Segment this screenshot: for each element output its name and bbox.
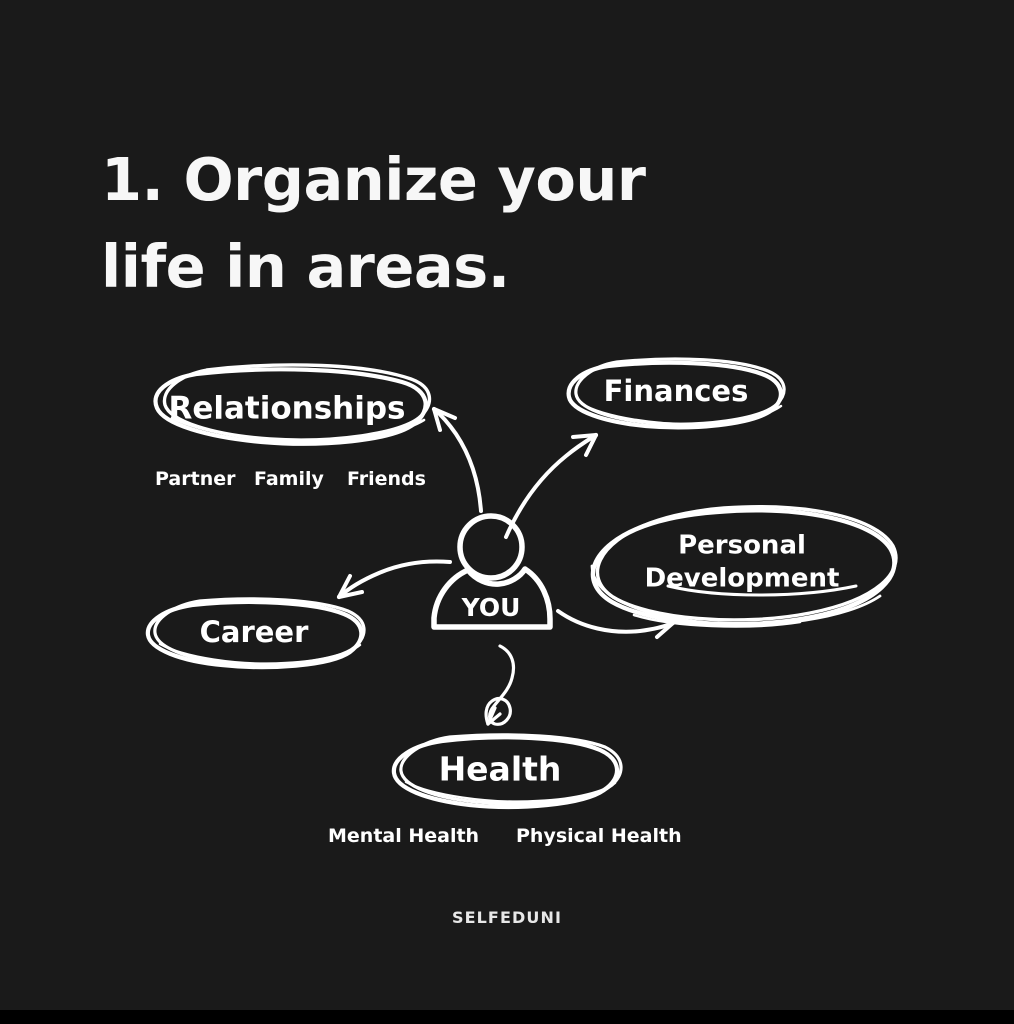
arrow-to-health <box>486 646 513 724</box>
slide-canvas: 1. Organize your life in areas. Relation… <box>0 0 1014 1010</box>
node-label-personal-development-line2: Development <box>645 564 840 594</box>
node-label-health: Health <box>439 750 562 789</box>
node-health[interactable]: Health <box>394 735 621 807</box>
sub-label-family: Family <box>254 468 324 490</box>
node-relationships[interactable]: Relationships <box>155 365 429 444</box>
node-finances[interactable]: Finances <box>569 359 784 427</box>
arrow-to-personal-development <box>558 611 673 637</box>
arrow-to-finances <box>506 435 596 537</box>
life-areas-diagram: Relationships Finances Personal Developm… <box>0 0 1014 1010</box>
arrow-to-relationships <box>434 409 481 511</box>
node-personal-development[interactable]: Personal Development <box>592 507 896 627</box>
sub-label-partner: Partner <box>155 468 235 490</box>
footer-brand: SELFEDUNI <box>0 908 1014 927</box>
node-label-personal-development-line1: Personal <box>678 531 806 561</box>
center-label-you: YOU <box>461 593 521 622</box>
sub-label-physical-health: Physical Health <box>516 825 682 847</box>
node-label-relationships: Relationships <box>168 391 405 427</box>
sub-label-mental-health: Mental Health <box>328 825 479 847</box>
node-career[interactable]: Career <box>148 599 364 667</box>
arrow-to-career <box>339 561 450 597</box>
bottom-letterbox-strip <box>0 1010 1014 1024</box>
node-label-career: Career <box>200 615 309 649</box>
person-icon[interactable]: YOU <box>434 516 550 627</box>
sub-label-friends: Friends <box>347 468 426 490</box>
node-label-finances: Finances <box>604 374 749 408</box>
